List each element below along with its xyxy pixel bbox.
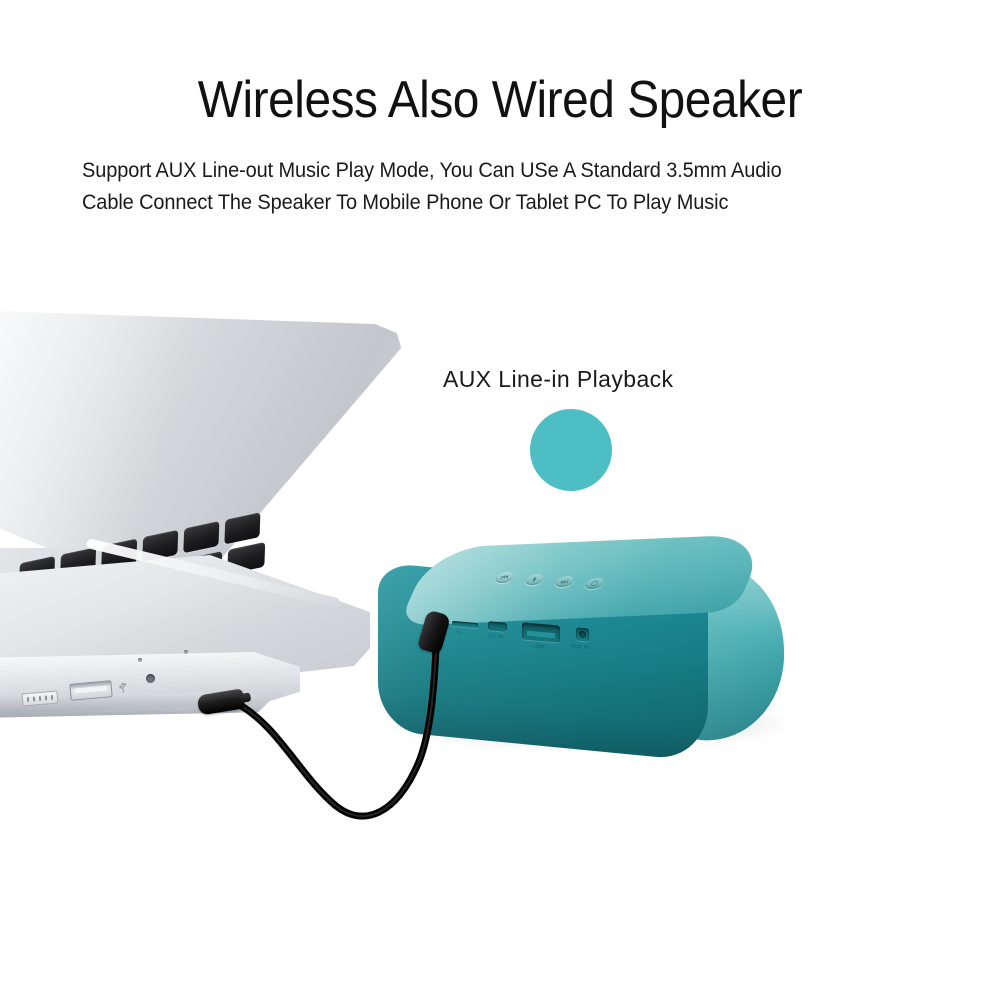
speaker-aux-in-jack: [576, 627, 589, 641]
speaker-usb-label: USB: [534, 644, 545, 651]
product-marketing-banner: Wireless Also Wired Speaker Support AUX …: [0, 0, 1000, 1000]
cable-path: [238, 648, 436, 816]
microphone-dot: [138, 658, 142, 662]
callout-dot: [530, 409, 612, 491]
page-title: Wireless Also Wired Speaker: [40, 72, 960, 128]
usb-icon: [115, 679, 130, 694]
laptop-usb-a-port: [69, 680, 112, 701]
subtitle-line-1: Support AUX Line-out Music Play Mode, Yo…: [82, 160, 918, 181]
subtitle-line-2: Cable Connect The Speaker To Mobile Phon…: [82, 192, 918, 213]
speaker-usb-a-port: [522, 622, 560, 642]
aux-audio-cable: [150, 600, 500, 860]
callout-label-aux-line-in-playback: AUX Line-in Playback: [443, 366, 673, 392]
